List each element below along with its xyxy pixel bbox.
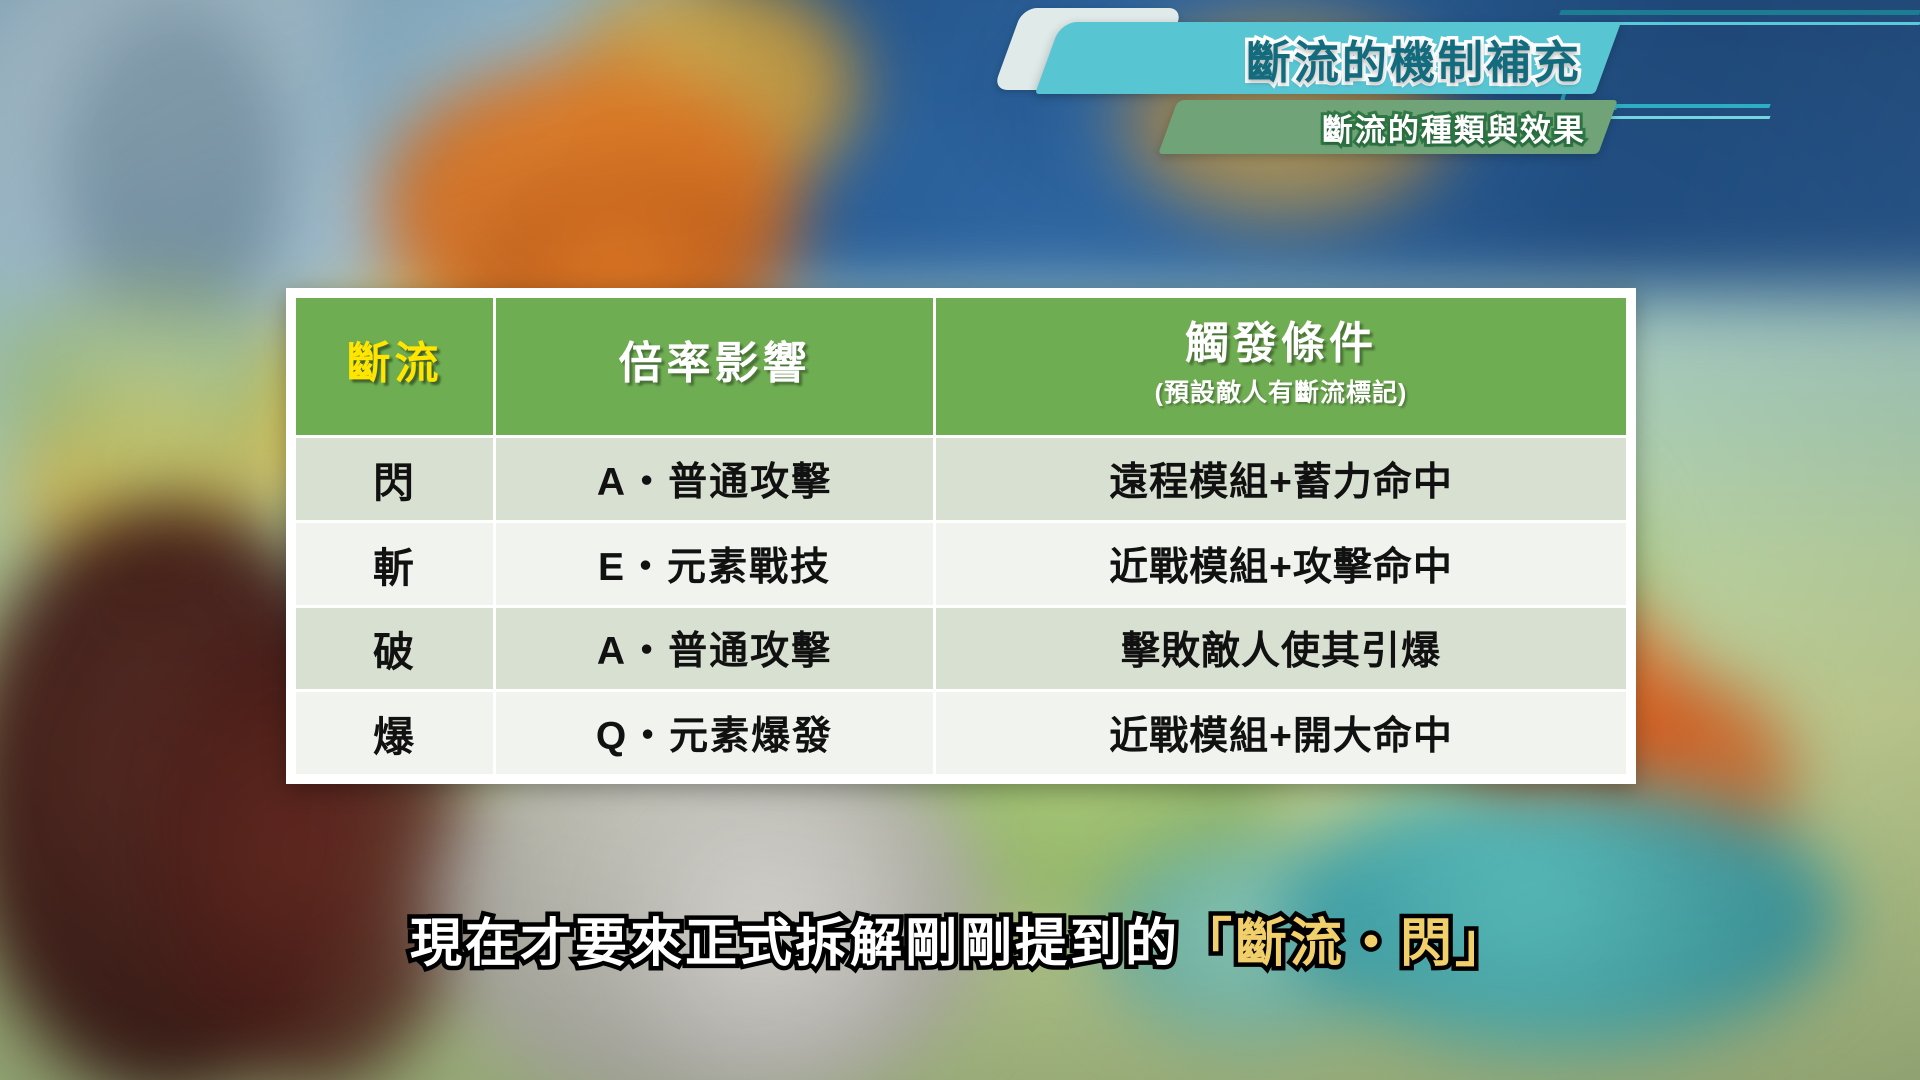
video-frame: 斷流的機制補充 斷流的種類與效果 斷流 倍率影響 觸發條件 — [0, 0, 1920, 1080]
cell-condition: 遠程模組+蓄力命中 — [935, 437, 1628, 522]
column-header-label: 觸發條件 — [936, 320, 1626, 368]
decorative-stripe — [1589, 22, 1920, 25]
cell-type: 爆 — [295, 691, 495, 776]
section-title-banner: 斷流的機制補充 — [1035, 22, 1621, 94]
table-header-row: 斷流 倍率影響 觸發條件 (預設敵人有斷流標記) — [295, 297, 1628, 437]
column-header-type: 斷流 — [295, 297, 495, 437]
table-row: 閃 A・普通攻擊 遠程模組+蓄力命中 — [295, 437, 1628, 522]
decorative-stripe — [1559, 10, 1920, 15]
cell-condition: 擊敗敵人使其引爆 — [935, 606, 1628, 691]
cell-condition: 近戰模組+攻擊命中 — [935, 521, 1628, 606]
cell-multiplier: E・元素戰技 — [495, 521, 935, 606]
column-header-condition: 觸發條件 (預設敵人有斷流標記) — [935, 297, 1628, 437]
table-row: 爆 Q・元素爆發 近戰模組+開大命中 — [295, 691, 1628, 776]
cell-condition: 近戰模組+開大命中 — [935, 691, 1628, 776]
title-banner-group: 斷流的機制補充 斷流的種類與效果 — [1000, 0, 1920, 180]
table-row: 破 A・普通攻擊 擊敗敵人使其引爆 — [295, 606, 1628, 691]
column-header-note: (預設敵人有斷流標記) — [936, 373, 1626, 409]
cell-type: 斬 — [295, 521, 495, 606]
column-header-label: 倍率影響 — [496, 340, 933, 388]
cell-multiplier: A・普通攻擊 — [495, 606, 935, 691]
caption-segment-plain: 現在才要來正式拆解剛剛提到的 — [410, 915, 1180, 973]
caption-segment-highlight: 「斷流・閃」 — [1180, 915, 1510, 973]
table-row: 斬 E・元素戰技 近戰模組+攻擊命中 — [295, 521, 1628, 606]
section-title-text: 斷流的機制補充 — [1246, 26, 1582, 91]
cell-multiplier: Q・元素爆發 — [495, 691, 935, 776]
cell-type: 閃 — [295, 437, 495, 522]
subtitle-caption: 現在才要來正式拆解剛剛提到的「斷流・閃」 — [0, 918, 1920, 970]
column-header-label: 斷流 — [296, 340, 493, 388]
comparison-table: 斷流 倍率影響 觸發條件 (預設敵人有斷流標記) 閃 A・普通攻擊 遠程模組+蓄… — [286, 288, 1636, 784]
column-header-multiplier: 倍率影響 — [495, 297, 935, 437]
section-subtitle-text: 斷流的種類與效果 — [1322, 105, 1586, 150]
section-subtitle-banner: 斷流的種類與效果 — [1158, 100, 1618, 154]
cell-multiplier: A・普通攻擊 — [495, 437, 935, 522]
cell-type: 破 — [295, 606, 495, 691]
